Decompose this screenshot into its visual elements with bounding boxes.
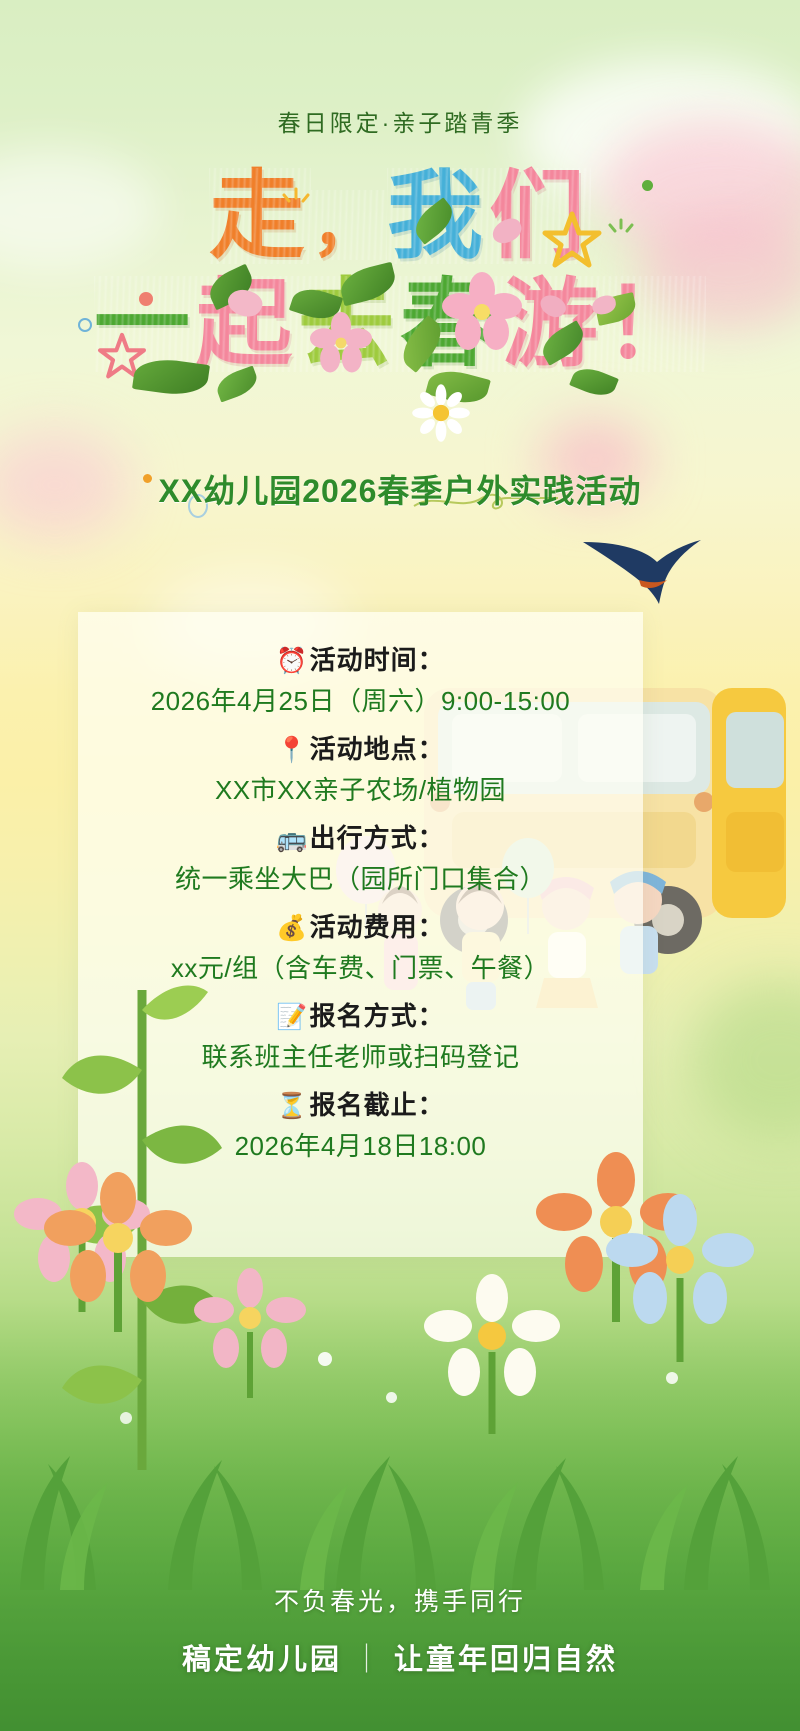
spring-outing-poster: 春日限定·亲子踏青季 走，我们 一起去春游！ xyxy=(0,0,800,1731)
alarm-clock-icon: ⏰ xyxy=(276,647,308,675)
flower-orange-left xyxy=(44,1172,194,1332)
eyebrow-text: 春日限定·亲子踏青季 xyxy=(0,104,800,138)
bus-icon: 🚌 xyxy=(276,825,308,853)
info-label-signup: 📝报名方式： xyxy=(78,1002,643,1032)
footer-tagline: 不负春光，携手同行 xyxy=(0,1582,800,1618)
footer-brand: 稿定幼儿园 xyxy=(182,1644,342,1676)
title-char-exclaim: ！ xyxy=(604,276,706,372)
info-label-time-text: 活动时间： xyxy=(310,645,445,675)
star-yellow-icon xyxy=(540,208,604,272)
info-label-deadline-text: 报名截止： xyxy=(310,1090,445,1120)
info-value-deadline: 2026年4月18日18:00 xyxy=(78,1131,643,1162)
memo-icon: 📝 xyxy=(276,1003,308,1031)
footer-brand-line: 稿定幼儿园｜让童年回归自然 xyxy=(0,1636,800,1678)
footer-separator: ｜ xyxy=(342,1644,394,1676)
sparkle-yellow-icon xyxy=(278,185,314,221)
map-pin-icon: 📍 xyxy=(276,736,308,764)
event-info-card: ⏰活动时间： 2026年4月25日（周六）9:00-15:00 📍活动地点： X… xyxy=(78,612,643,1257)
info-value-signup: 联系班主任老师或扫码登记 xyxy=(78,1042,643,1073)
info-label-transport: 🚌出行方式： xyxy=(78,824,643,854)
info-label-fee: 💰活动费用： xyxy=(78,913,643,943)
info-value-location: XX市XX亲子农场/植物园 xyxy=(78,775,643,806)
info-value-time: 2026年4月25日（周六）9:00-15:00 xyxy=(78,686,643,717)
hourglass-icon: ⏳ xyxy=(276,1092,308,1120)
info-label-time: ⏰活动时间： xyxy=(78,646,643,676)
info-value-transport: 统一乘坐大巴（园所门口集合） xyxy=(78,864,643,895)
subtitle-text: XX幼儿园2026春季户外实践活动 xyxy=(0,466,800,512)
daisy-flower-icon xyxy=(414,386,468,440)
event-info-list: ⏰活动时间： 2026年4月25日（周六）9:00-15:00 📍活动地点： X… xyxy=(78,612,643,1162)
info-label-location-text: 活动地点： xyxy=(310,734,445,764)
info-label-transport-text: 出行方式： xyxy=(310,823,445,853)
info-label-location: 📍活动地点： xyxy=(78,735,643,765)
footer-slogan: 让童年回归自然 xyxy=(394,1644,618,1676)
swallow-bird-icon xyxy=(575,530,705,610)
title-char-comma: ， xyxy=(311,190,387,260)
circle-outline-blue-icon xyxy=(76,316,94,334)
info-label-signup-text: 报名方式： xyxy=(310,1001,445,1031)
title-line-1: 走，我们 xyxy=(0,168,800,264)
money-bag-icon: 💰 xyxy=(276,914,308,942)
info-label-deadline: ⏳报名截止： xyxy=(78,1091,643,1121)
bokeh-blob-green-right xyxy=(690,980,800,1140)
info-label-fee-text: 活动费用： xyxy=(310,912,445,942)
sparkle-green-icon xyxy=(604,216,638,250)
info-value-fee: xx元/组（含车费、门票、午餐） xyxy=(78,953,643,984)
grass-blades-foreground xyxy=(0,1330,800,1590)
